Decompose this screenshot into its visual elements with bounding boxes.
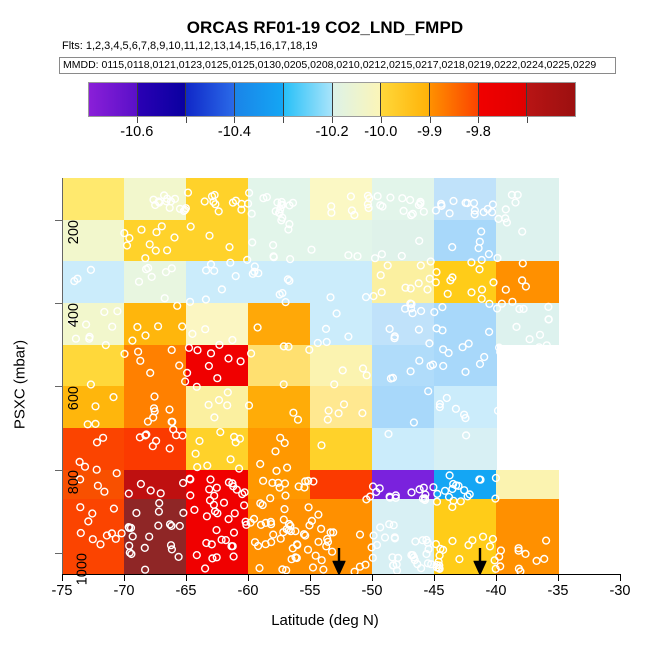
heatmap-cell xyxy=(124,178,187,220)
heatmap-cell xyxy=(310,470,373,500)
heatmap-cell xyxy=(372,428,435,470)
colorbar-segment xyxy=(89,83,138,116)
heatmap-cell xyxy=(496,178,559,220)
heatmap-cell xyxy=(124,499,187,529)
heatmap-cell xyxy=(496,499,559,529)
heatmap-cell xyxy=(124,303,187,345)
heatmap-cell xyxy=(186,178,249,220)
colorbar: -10.6-10.4-10.2-10.0-9.9-9.8 xyxy=(88,82,576,117)
colorbar-segment xyxy=(527,83,575,116)
x-axis-tick xyxy=(186,574,187,581)
mmdd-list-box: MMDD: 0115,0118,0121,0123,0125,0125,0130… xyxy=(59,57,616,74)
heatmap-cell xyxy=(248,303,311,345)
heatmap-cell xyxy=(124,345,187,387)
heatmap-cell xyxy=(310,386,373,428)
x-axis-tick xyxy=(496,574,497,581)
heatmap-cell xyxy=(248,428,311,470)
heatmap-cell xyxy=(248,528,311,574)
heatmap-cell xyxy=(372,220,435,262)
y-axis-tick xyxy=(55,470,63,471)
x-axis-tick-label: -45 xyxy=(424,583,445,599)
x-axis-line xyxy=(62,574,620,575)
x-axis-tick xyxy=(434,574,435,581)
heatmap-cell xyxy=(372,386,435,428)
y-axis-line xyxy=(62,178,63,574)
heatmap-cell xyxy=(372,178,435,220)
x-axis-tick xyxy=(248,574,249,581)
heatmap-cell xyxy=(186,428,249,470)
heatmap-cell xyxy=(248,220,311,262)
flights-list: Flts: 1,2,3,4,5,6,7,8,9,10,11,12,13,14,1… xyxy=(62,40,317,52)
heatmap-cell xyxy=(248,178,311,220)
heatmap-cell xyxy=(434,428,497,470)
heatmap-cell xyxy=(496,303,559,345)
heatmap-cell xyxy=(310,220,373,262)
colorbar-tick xyxy=(186,117,187,123)
heatmap-cell xyxy=(434,303,497,345)
heatmap-cell xyxy=(186,303,249,345)
heatmap-cell xyxy=(248,470,311,500)
heatmap-cell xyxy=(248,261,311,303)
y-axis-tick-label: 600 xyxy=(66,386,82,410)
heatmap-cell xyxy=(434,345,497,387)
colorbar-tick xyxy=(478,117,479,123)
x-axis-tick xyxy=(372,574,373,581)
y-axis-tick-label: 800 xyxy=(66,470,82,494)
x-axis-label: Latitude (deg N) xyxy=(0,612,650,629)
colorbar-segment xyxy=(430,83,479,116)
heatmap-cell xyxy=(372,470,435,500)
latitude-arrow-marker xyxy=(473,548,486,574)
heatmap-cell xyxy=(496,261,559,303)
colorbar-segment xyxy=(186,83,235,116)
heatmap-cell xyxy=(372,261,435,303)
colorbar-tick-label: -10.6 xyxy=(120,124,153,140)
heatmap-cells xyxy=(62,178,620,574)
heatmap-cell xyxy=(372,528,435,574)
heatmap-cell xyxy=(372,345,435,387)
colorbar-tick xyxy=(234,117,235,123)
x-axis-tick xyxy=(310,574,311,581)
x-axis-tick-label: -70 xyxy=(114,583,135,599)
heatmap-cell xyxy=(310,261,373,303)
x-axis-tick xyxy=(558,574,559,581)
colorbar-segment xyxy=(333,83,382,116)
colorbar-segment xyxy=(479,83,528,116)
colorbar-tick-label: -10.4 xyxy=(218,124,251,140)
heatmap-cell xyxy=(496,528,559,574)
y-axis-tick-label: 400 xyxy=(66,303,82,327)
colorbar-tick xyxy=(137,117,138,123)
y-axis-tick xyxy=(55,303,63,304)
heatmap-cell xyxy=(62,428,125,470)
colorbar-tick xyxy=(430,117,431,123)
heatmap-cell xyxy=(310,178,373,220)
x-axis-tick-label: -55 xyxy=(300,583,321,599)
colorbar-tick xyxy=(527,117,528,123)
x-axis-tick xyxy=(62,574,63,581)
colorbar-gradient-strip xyxy=(88,82,576,117)
x-axis-tick-label: -65 xyxy=(176,583,197,599)
y-axis-tick-label: 200 xyxy=(66,220,82,244)
heatmap-cell xyxy=(310,345,373,387)
colorbar-segment xyxy=(138,83,187,116)
heatmap-cell xyxy=(434,386,497,428)
x-axis-tick-label: -50 xyxy=(362,583,383,599)
heatmap-cell xyxy=(310,428,373,470)
y-axis-label: PSXC (mbar) xyxy=(12,285,29,485)
heatmap-cell xyxy=(186,528,249,574)
y-axis-tick xyxy=(55,220,63,221)
heatmap-cell xyxy=(434,261,497,303)
colorbar-tick-label: -10.2 xyxy=(315,124,348,140)
x-axis-tick xyxy=(620,574,621,581)
heatmap-cell xyxy=(496,220,559,262)
heatmap-cell xyxy=(124,528,187,574)
y-axis-tick xyxy=(55,386,63,387)
heatmap-cell xyxy=(124,261,187,303)
colorbar-tick xyxy=(381,117,382,123)
x-axis-tick-label: -75 xyxy=(52,583,73,599)
heatmap-cell xyxy=(186,499,249,529)
heatmap-cell xyxy=(62,178,125,220)
heatmap-cell xyxy=(310,499,373,529)
heatmap-cell xyxy=(248,345,311,387)
heatmap-cell xyxy=(124,220,187,262)
heatmap-cell xyxy=(124,428,187,470)
colorbar-tick-label: -9.8 xyxy=(466,124,491,140)
heatmap-cell xyxy=(186,261,249,303)
colorbar-segment xyxy=(381,83,430,116)
heatmap-cell xyxy=(62,345,125,387)
heatmap-cell xyxy=(248,386,311,428)
heatmap-cell xyxy=(124,470,187,500)
heatmap-cell xyxy=(372,499,435,529)
heatmap-cell xyxy=(496,470,559,500)
colorbar-segment xyxy=(235,83,284,116)
heatmap-cell xyxy=(434,178,497,220)
colorbar-tick xyxy=(332,117,333,123)
heatmap-cell xyxy=(186,345,249,387)
latitude-arrow-marker xyxy=(332,548,345,574)
heatmap-cell xyxy=(372,303,435,345)
heatmap-cell xyxy=(434,470,497,500)
heatmap-cell xyxy=(434,499,497,529)
colorbar-tick-label: -9.9 xyxy=(417,124,442,140)
heatmap-cell xyxy=(248,499,311,529)
x-axis-tick-label: -60 xyxy=(238,583,259,599)
x-axis-tick-label: -40 xyxy=(486,583,507,599)
heatmap-cell xyxy=(62,528,125,574)
x-axis-tick-label: -30 xyxy=(610,583,631,599)
heatmap-cell xyxy=(186,386,249,428)
y-axis-tick xyxy=(55,553,63,554)
x-axis-tick-label: -35 xyxy=(548,583,569,599)
colorbar-tick-label: -10.0 xyxy=(364,124,397,140)
heatmap-cell xyxy=(434,528,497,574)
heatmap-cell xyxy=(124,386,187,428)
heatmap-cell xyxy=(62,499,125,529)
heatmap-cell xyxy=(62,261,125,303)
heatmap-cell xyxy=(434,220,497,262)
heatmap-plot xyxy=(62,178,620,574)
heatmap-cell xyxy=(310,303,373,345)
colorbar-segment xyxy=(284,83,333,116)
y-axis-tick-label: 1000 xyxy=(74,553,90,585)
x-axis-tick xyxy=(124,574,125,581)
heatmap-cell xyxy=(186,470,249,500)
heatmap-cell xyxy=(186,220,249,262)
colorbar-tick xyxy=(283,117,284,123)
page-title: ORCAS RF01-19 CO2_LND_FMPD xyxy=(0,18,650,38)
